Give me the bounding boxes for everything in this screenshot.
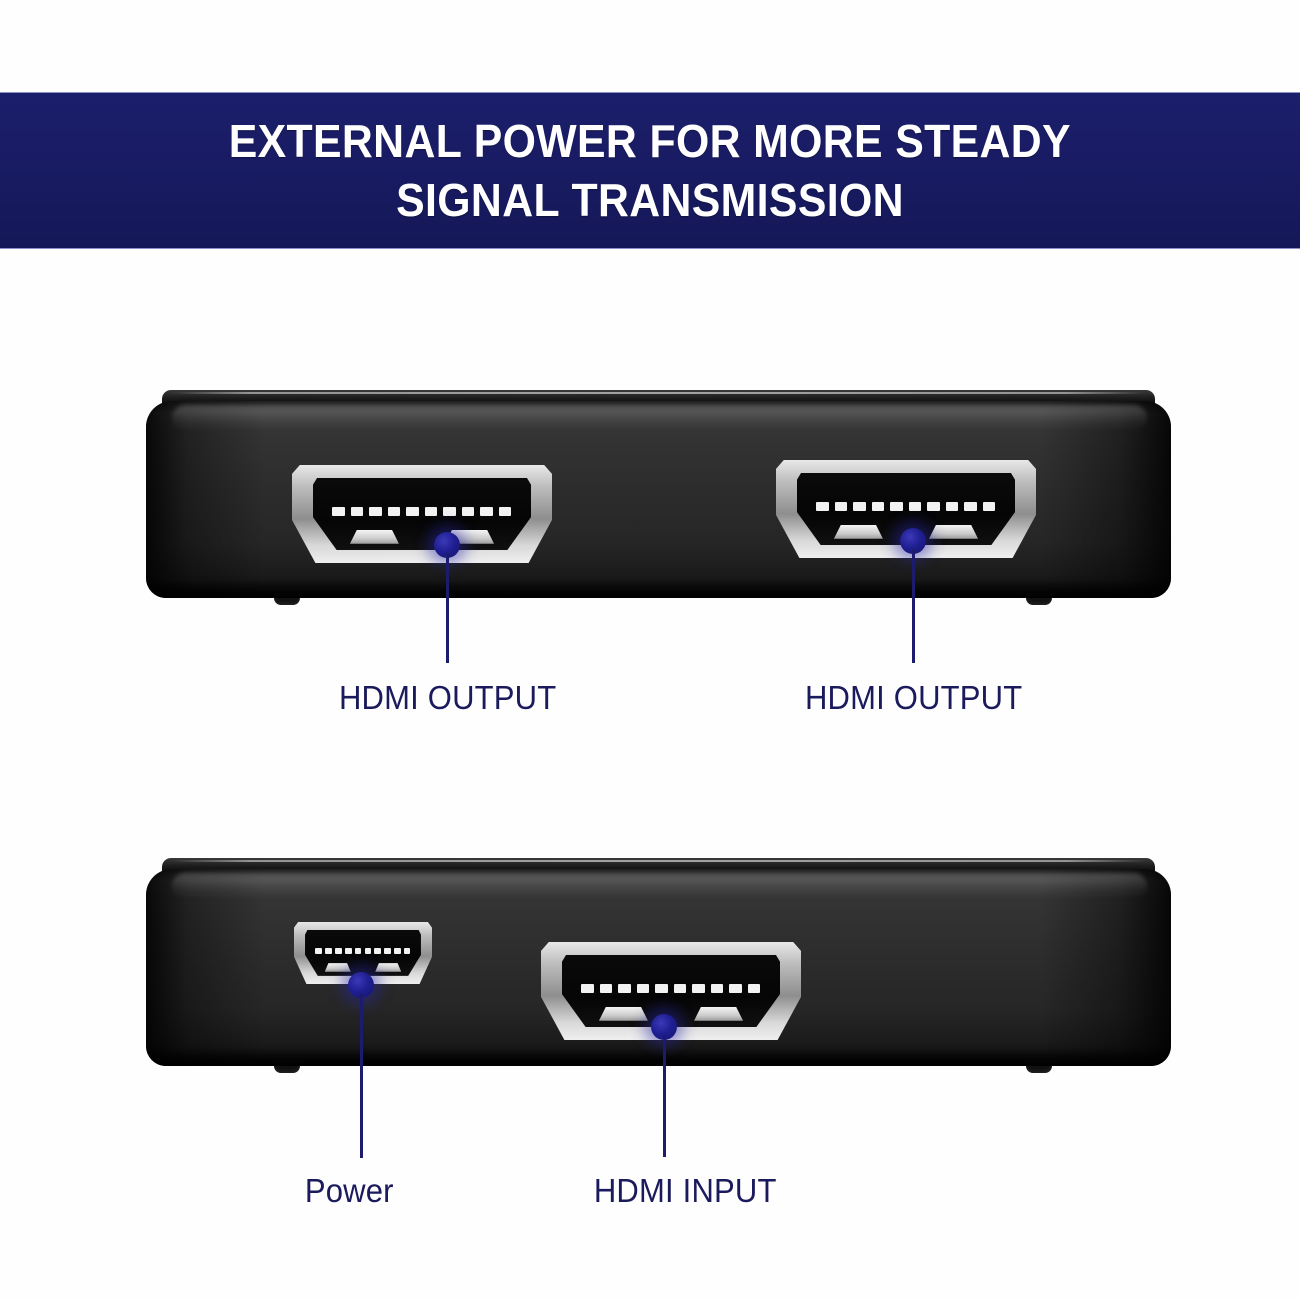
callout-leader-line <box>912 549 915 663</box>
callout-leader-line <box>360 993 363 1158</box>
hdmi-port-cavity <box>313 478 531 551</box>
label-hdmi-output-2: HDMI OUTPUT <box>805 679 1022 717</box>
hdmi-keying-tabs <box>350 530 494 544</box>
label-hdmi-output-1: HDMI OUTPUT <box>339 679 556 717</box>
device-output-side <box>146 390 1171 605</box>
device-gloss-highlight <box>172 873 1147 899</box>
device-input-side <box>146 858 1171 1073</box>
banner-title-line-1: EXTERNAL POWER FOR MORE STEADY <box>229 112 1071 171</box>
callout-leader-line <box>663 1035 666 1157</box>
callout-leader-line <box>446 553 449 663</box>
power-port-cavity <box>305 930 421 976</box>
hdmi-pin-contacts <box>332 507 511 516</box>
hdmi-pin-contacts <box>581 984 760 993</box>
label-power: Power <box>305 1172 394 1210</box>
header-banner: EXTERNAL POWER FOR MORE STEADY SIGNAL TR… <box>0 93 1300 248</box>
label-hdmi-input: HDMI INPUT <box>594 1172 777 1210</box>
hdmi-output-port-1[interactable] <box>292 465 552 563</box>
device-base-shadow <box>146 580 1171 598</box>
power-keying-tabs <box>325 963 401 972</box>
device-base-shadow <box>146 1048 1171 1066</box>
banner-title-line-2: SIGNAL TRANSMISSION <box>396 171 904 230</box>
device-gloss-highlight <box>172 405 1147 431</box>
hdmi-pin-contacts <box>816 502 995 511</box>
power-pin-contacts <box>315 948 410 954</box>
